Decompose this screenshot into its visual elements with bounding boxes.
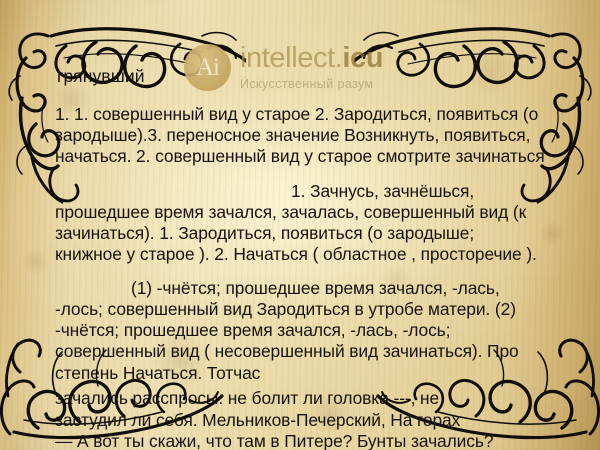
slide-canvas: Ai intellect.icu Искусственный разум гря… xyxy=(0,0,600,450)
intellect-logo-icon: Ai xyxy=(184,44,231,91)
logo-text: Ai xyxy=(196,55,219,80)
entry-paragraph-3: (1) -чнётся; прошедшее время зачался, -л… xyxy=(55,278,545,383)
citation-2-line-1: — А вот ты скажи, что там в Питере? Бунт… xyxy=(55,431,555,450)
entry-paragraph-2: 1. Зачнусь, зачнёшься, прошедшее время з… xyxy=(55,181,545,265)
watermark-brand: intellect.icu xyxy=(240,44,383,73)
entry-3-lead: (1) -чнётся; прошедшее время зачался, xyxy=(131,278,447,298)
citation-1-line-2: застудил ли себя. Мельников-Печерский, Н… xyxy=(55,410,555,432)
citation-block: зачались расспросы: не болит ли головка … xyxy=(55,388,555,450)
entry-paragraph-1: 1. 1. совершенный вид у старое 2. Зароди… xyxy=(55,104,545,167)
citation-1-line-1: зачались расспросы: не болит ли головка … xyxy=(55,388,555,410)
watermark-text: intellect.icu Искусственный разум xyxy=(240,44,383,91)
headword-title: грянувший xyxy=(57,66,145,87)
dictionary-body: 1. 1. совершенный вид у старое 2. Зароди… xyxy=(55,104,545,384)
watermark-brand-suffix: icu xyxy=(342,42,383,74)
watermark-brand-prefix: intellect. xyxy=(240,42,342,74)
entry-2-lead: 1. Зачнусь, xyxy=(291,181,379,201)
watermark: Ai intellect.icu Искусственный разум xyxy=(184,44,383,91)
watermark-tagline: Искусственный разум xyxy=(240,78,383,91)
